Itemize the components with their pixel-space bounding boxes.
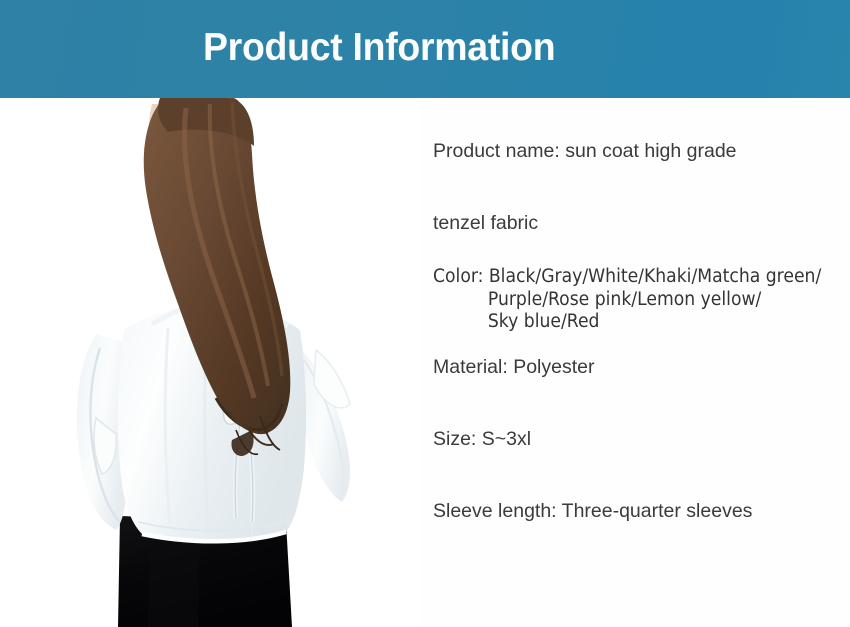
spec-color-line-3: Sky blue/Red [433, 311, 821, 334]
page-header-banner: Product Information [0, 0, 850, 98]
spec-size: Size: S~3xl [433, 426, 531, 452]
spec-color: Color: Black/Gray/White/Khaki/Matcha gre… [433, 266, 821, 334]
product-specs-list: Product name: sun coat high grade tenzel… [433, 98, 833, 627]
spec-color-line-1: Color: Black/Gray/White/Khaki/Matcha gre… [433, 266, 821, 289]
spec-fabric: tenzel fabric [433, 210, 538, 236]
spec-product-name: Product name: sun coat high grade [433, 138, 737, 164]
spec-material: Material: Polyester [433, 354, 594, 380]
product-information-page: Product Information [0, 0, 850, 627]
spec-color-line-2: Purple/Rose pink/Lemon yellow/ [433, 289, 821, 312]
page-title: Product Information [203, 22, 741, 74]
spec-sleeve-length: Sleeve length: Three-quarter sleeves [433, 498, 752, 524]
product-photo-illustration [0, 98, 420, 627]
product-photo [0, 98, 420, 627]
